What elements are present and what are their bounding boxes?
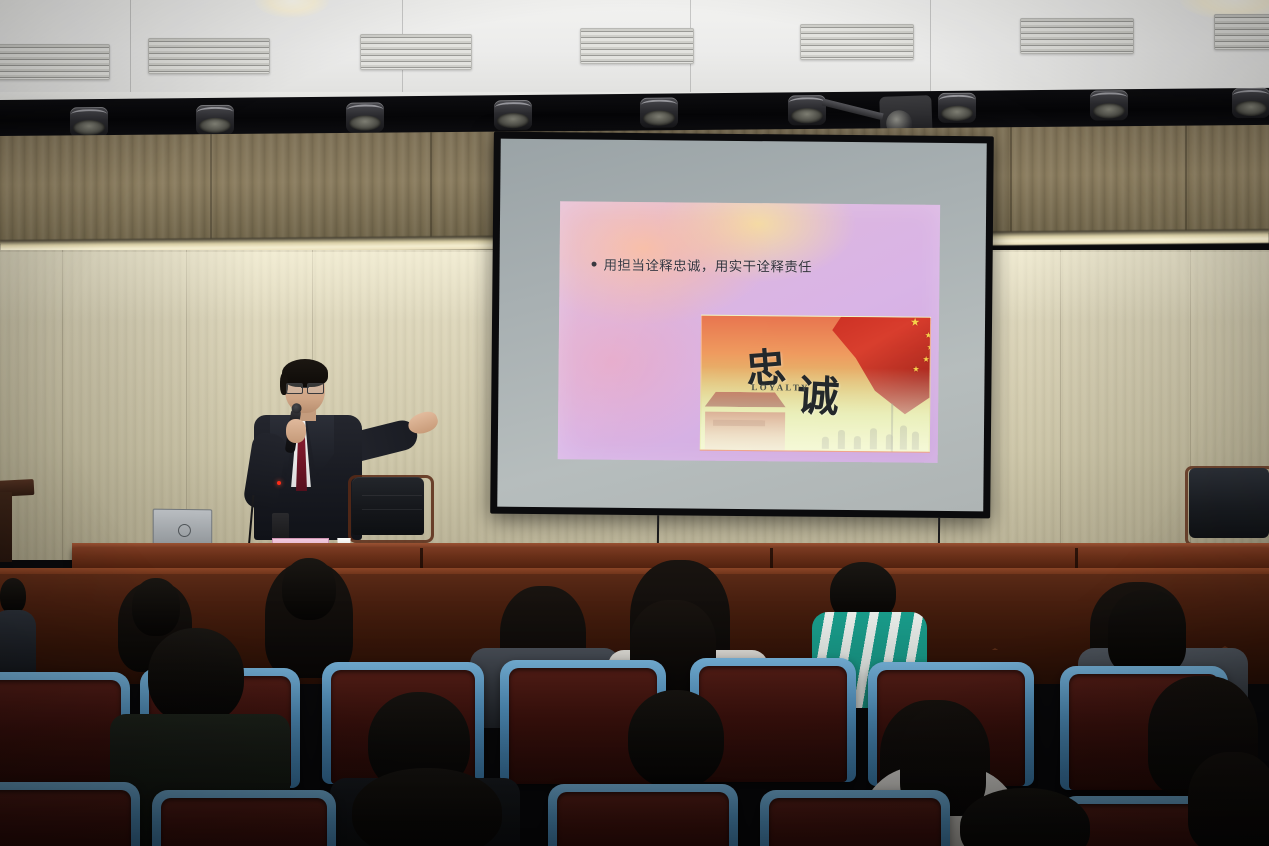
spotlight-icon: [788, 95, 826, 125]
ceiling-vent: [360, 34, 472, 70]
audience-person-head: [0, 578, 26, 614]
stage-chair-right: [1185, 468, 1269, 550]
spotlight-icon: [70, 107, 108, 137]
spotlight-icon: [346, 102, 384, 132]
audience-person-head: [148, 628, 244, 724]
projection-screen: 用担当诠释忠诚，用实干诠释责任 ★ ★ ★ ★ ★: [490, 132, 994, 519]
spotlight-icon: [938, 93, 976, 123]
auditorium-seat[interactable]: [548, 784, 738, 846]
audience-person-hair: [1108, 590, 1186, 674]
wall-seam: [1060, 250, 1061, 560]
wall-seam: [1185, 126, 1187, 234]
auditorium-seat[interactable]: [0, 782, 140, 846]
loyalty-subtitle: LOYALTY: [751, 382, 809, 393]
ceiling-vent: [800, 24, 914, 60]
ceiling-vent: [1020, 18, 1134, 54]
microphone-status-led: [277, 481, 281, 485]
spotlight-icon: [640, 97, 678, 127]
auditorium-seat[interactable]: [760, 790, 950, 846]
chair-backrest: [1189, 468, 1269, 538]
audience-person-head: [282, 558, 336, 620]
wall-seam: [430, 132, 432, 240]
ceiling-vent: [1214, 14, 1269, 50]
hp-logo-icon: [178, 524, 191, 537]
presentation-slide: 用担当诠释忠诚，用实干诠释责任 ★ ★ ★ ★ ★: [558, 201, 940, 463]
ceiling-vent: [148, 38, 270, 74]
ceiling-downlight-glow: [255, 0, 329, 18]
spotlight-icon: [494, 100, 532, 130]
wall-seam: [1010, 127, 1012, 235]
lecture-hall-photo: 用担当诠释忠诚，用实干诠释责任 ★ ★ ★ ★ ★: [0, 0, 1269, 846]
audience-person-head: [628, 690, 724, 788]
screen-surface: 用担当诠释忠诚，用实干诠释责任 ★ ★ ★ ★ ★: [497, 139, 987, 512]
ceiling: [0, 0, 1269, 92]
speaker-left-hand: [286, 419, 306, 443]
slide-bullet-line: 用担当诠释忠诚，用实干诠释责任: [591, 254, 911, 277]
slide-bullet-text: 用担当诠释忠诚，用实干诠释责任: [603, 254, 812, 276]
loyalty-char-2: 诚: [796, 361, 842, 424]
ceiling-vent: [580, 28, 694, 64]
ceiling-vent: [0, 44, 110, 80]
spotlight-icon: [1232, 88, 1269, 118]
audience-person-head: [352, 768, 502, 846]
auditorium-seat[interactable]: [152, 790, 336, 846]
wall-seam: [62, 250, 63, 560]
ceiling-seam: [130, 0, 131, 92]
audience-person-hair: [1188, 752, 1269, 846]
wall-seam: [210, 134, 212, 242]
audience-person-head: [132, 578, 180, 636]
chair-backrest: [352, 477, 424, 535]
spotlight-icon: [1090, 90, 1128, 120]
glasses-icon: [286, 383, 324, 392]
ceiling-seam: [930, 0, 931, 92]
stage-chair: [348, 477, 428, 549]
slide-embedded-image: ★ ★ ★ ★ ★: [700, 315, 931, 453]
side-lectern-body: [0, 492, 12, 562]
audience-person-body: [0, 610, 36, 680]
bullet-dot-icon: [592, 261, 597, 266]
spotlight-icon: [196, 105, 234, 135]
